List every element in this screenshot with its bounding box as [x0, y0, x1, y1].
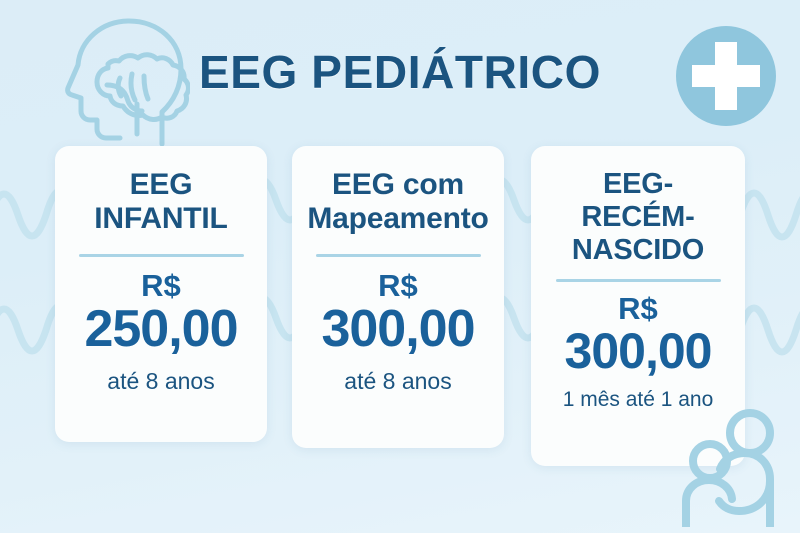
card-title-line-2: INFANTIL: [94, 202, 227, 235]
price-block: R$ 250,00: [84, 269, 237, 356]
card-divider: [556, 279, 721, 282]
age-range-note: até 8 anos: [344, 368, 451, 394]
eeg-pricing-poster: EEG PEDIÁTRICO EEG INFANTIL R$ 250,00 at…: [0, 0, 800, 533]
card-title: EEG- RECÉM- NASCIDO: [572, 168, 704, 267]
card-title-line-2: RECÉM-: [581, 201, 694, 233]
card-title-line-1: EEG: [130, 168, 193, 201]
card-title-line-1: EEG com: [332, 168, 464, 201]
price-block: R$ 300,00: [565, 292, 712, 377]
price-amount: 300,00: [321, 302, 474, 356]
card-title-line-2: Mapeamento: [307, 202, 488, 235]
currency-symbol: R$: [141, 269, 181, 302]
age-range-note: até 8 anos: [107, 368, 214, 394]
price-block: R$ 300,00: [321, 269, 474, 356]
card-title: EEG INFANTIL: [94, 168, 227, 236]
price-amount: 250,00: [84, 302, 237, 356]
card-title: EEG com Mapeamento: [307, 168, 488, 236]
price-card-eeg-infantil[interactable]: EEG INFANTIL R$ 250,00 até 8 anos: [55, 146, 267, 442]
card-divider: [316, 254, 481, 257]
card-title-line-1: EEG-: [603, 168, 673, 200]
card-divider: [79, 254, 244, 257]
currency-symbol: R$: [378, 269, 418, 302]
mother-and-child-icon: [664, 409, 792, 527]
currency-symbol: R$: [618, 292, 658, 325]
price-card-eeg-com-mapeamento[interactable]: EEG com Mapeamento R$ 300,00 até 8 anos: [292, 146, 504, 448]
price-amount: 300,00: [565, 325, 712, 377]
card-title-line-3: NASCIDO: [572, 234, 704, 266]
